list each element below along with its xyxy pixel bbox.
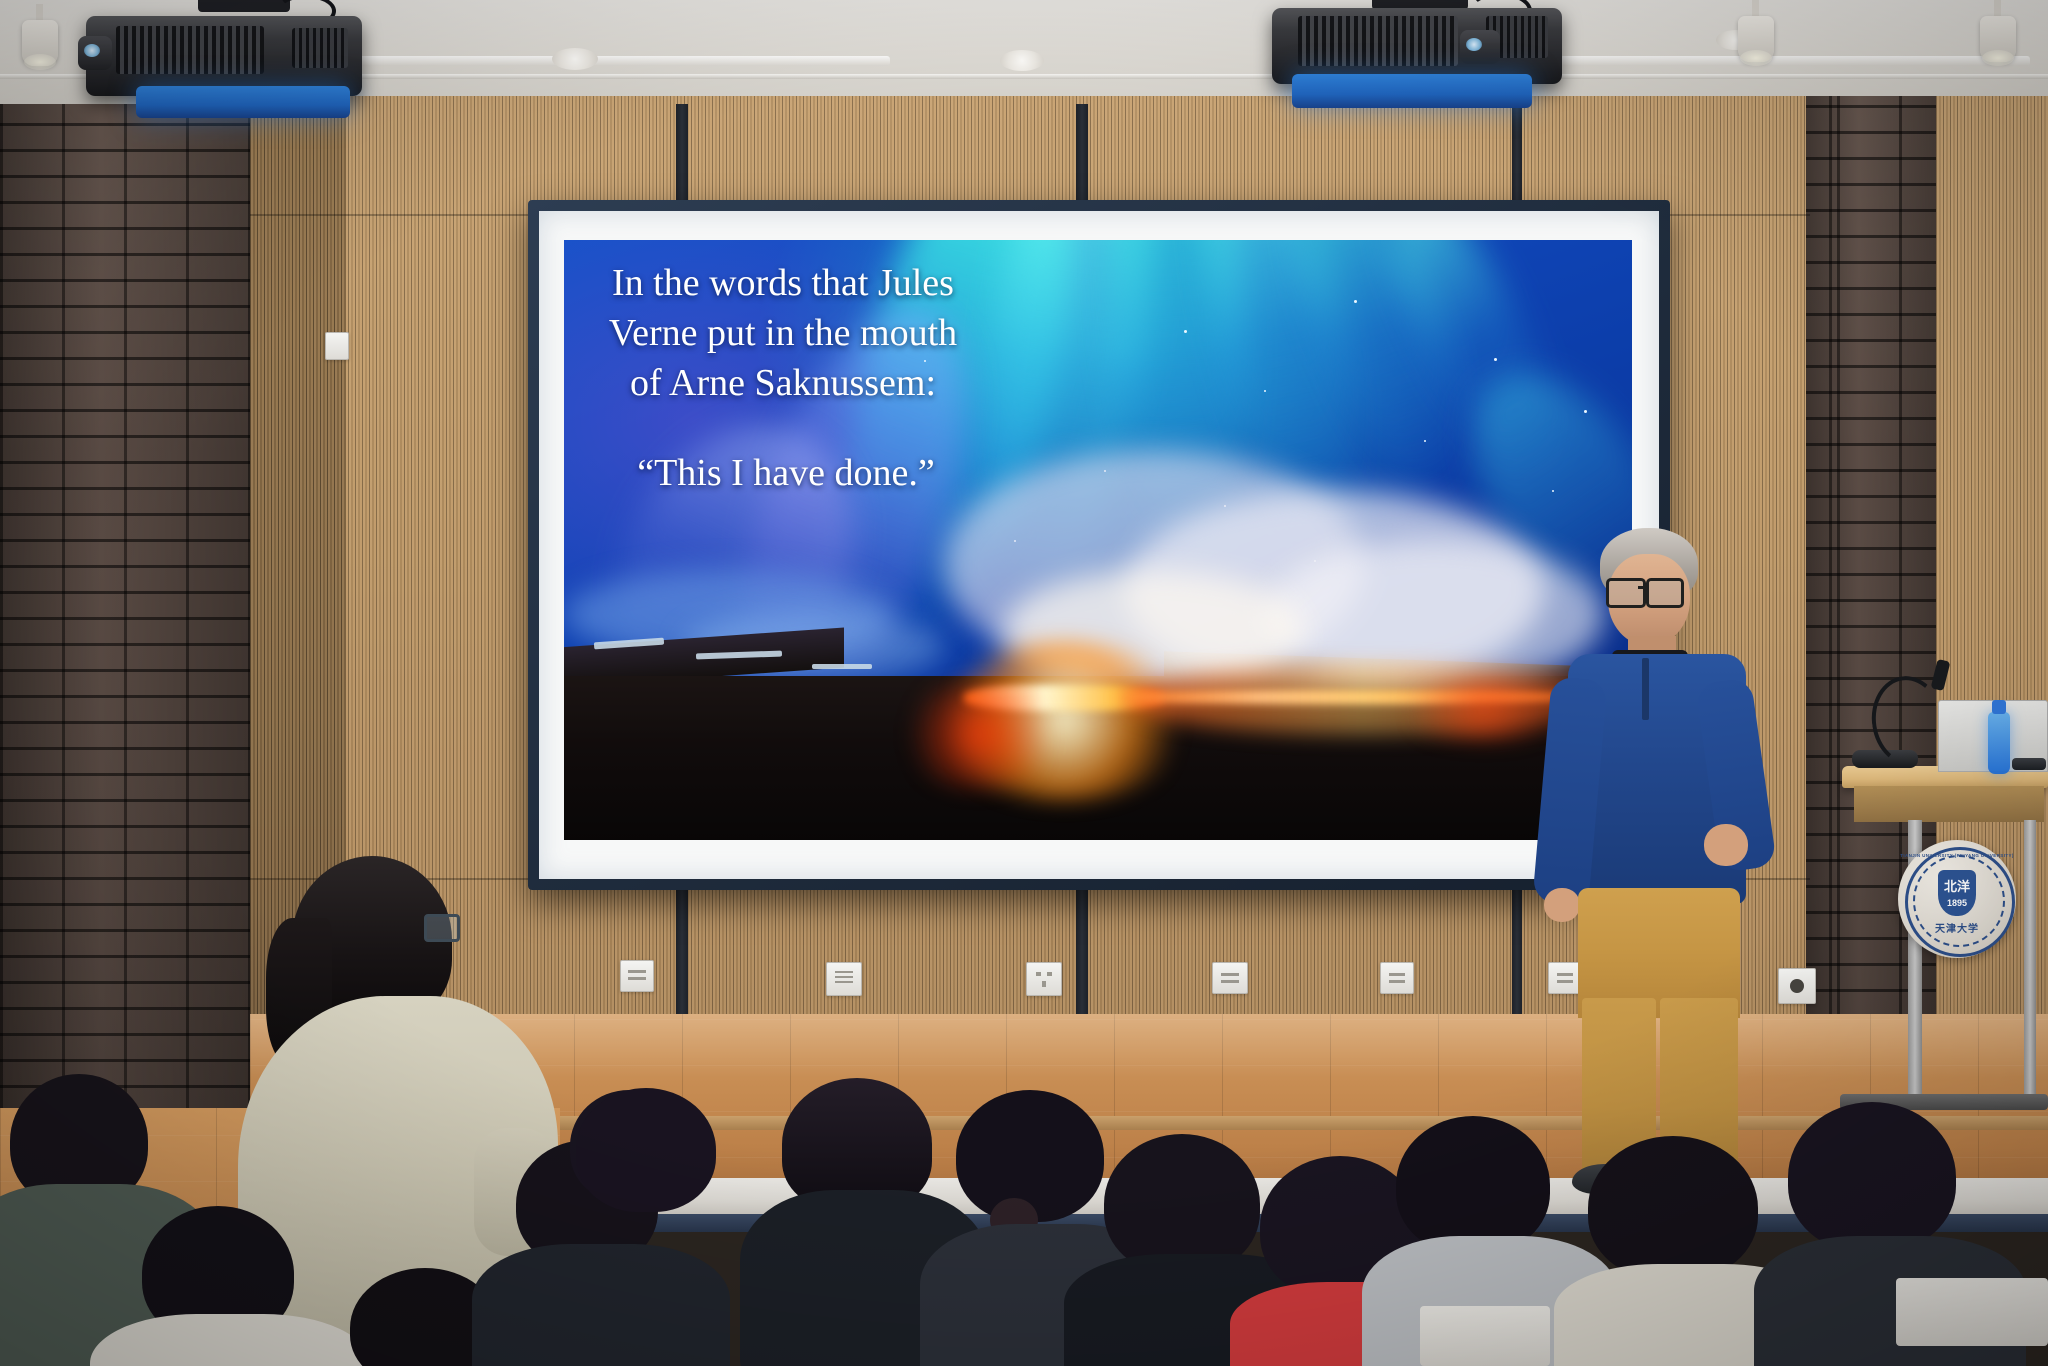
track-light-glow <box>24 54 56 70</box>
audience-head <box>1396 1116 1550 1254</box>
wall-plate[interactable] <box>325 332 349 360</box>
logo-year: 1895 <box>1938 898 1976 908</box>
track-light-glow <box>1740 50 1772 66</box>
projector-lens <box>78 36 112 70</box>
slide-line-2: Verne put in the mouth <box>578 308 988 358</box>
lava-glow <box>894 680 1064 790</box>
ceiling-projector-left <box>80 0 380 120</box>
projector-vent-grille <box>116 26 264 74</box>
track-light-glow <box>1982 50 2014 66</box>
presenter-glasses-bridge <box>1638 586 1648 589</box>
podium-leg <box>2024 820 2036 1100</box>
wall-outlet[interactable] <box>620 960 654 992</box>
snow-cap <box>812 664 872 669</box>
ceiling-light-strip <box>330 56 890 66</box>
wall-outlet[interactable] <box>826 962 862 996</box>
presenter-other-hand <box>1544 888 1580 922</box>
projector-lens-glass <box>84 44 100 57</box>
wall-outlet[interactable] <box>1026 962 1062 996</box>
logo-chinese-name: 天津大学 <box>1898 920 2016 935</box>
projector-blue-panel <box>1292 74 1532 108</box>
presenter-gesturing-hand <box>1704 824 1748 866</box>
brick-wall-left <box>0 104 252 1114</box>
seat-back <box>1420 1306 1550 1366</box>
lecture-hall-scene: In the words that Jules Verne put in the… <box>0 0 2048 1366</box>
slide-line-1: In the words that Jules <box>578 258 988 308</box>
audience-head <box>1104 1134 1260 1274</box>
presenter-glasses-left-lens <box>1606 578 1646 608</box>
audience-head <box>1788 1102 1956 1252</box>
ceiling-projector-right <box>1272 0 1572 112</box>
projector-blue-panel <box>136 86 350 118</box>
presenter <box>1530 528 1790 1168</box>
logo-shield-chars: 北洋 <box>1938 876 1976 895</box>
presenter-remote[interactable] <box>2012 758 2046 770</box>
audience-shoulders <box>90 1314 370 1366</box>
slide-line-3: of Arne Saknussem: <box>578 358 988 408</box>
podium-apron <box>1854 786 2044 822</box>
university-logo: 北洋 1895 天津大学 TIANJIN UNIVERSITY (PEIYANG… <box>1898 840 2016 958</box>
projector-vent-grille <box>1298 16 1458 66</box>
seat-back <box>1896 1278 2048 1346</box>
presenter-sweater-zip <box>1642 658 1649 720</box>
wall-outlet[interactable] <box>1212 962 1248 994</box>
audience-head <box>1588 1136 1758 1280</box>
brick-shading <box>0 104 252 1114</box>
slide-content: In the words that Jules Verne put in the… <box>564 240 1632 840</box>
audience-member <box>116 1206 360 1366</box>
projector-lens-glass <box>1466 38 1482 51</box>
presenter-glasses-right-lens <box>1646 578 1684 608</box>
logo-ring-text: TIANJIN UNIVERSITY (PEIYANG UNIVERSITY) <box>1898 853 2016 858</box>
slide-quote: “This I have done.” <box>586 448 986 498</box>
water-bottle-cap <box>1992 700 2006 714</box>
water-bottle[interactable] <box>1988 712 2010 774</box>
logo-shield: 北洋 1895 <box>1938 870 1976 916</box>
wall-outlet[interactable] <box>1380 962 1414 994</box>
slide-heading: In the words that Jules Verne put in the… <box>578 258 988 408</box>
recessed-downlight <box>552 48 598 70</box>
projector-vent-grille <box>292 28 348 68</box>
recessed-downlight <box>1000 50 1044 71</box>
audience-member <box>566 1088 756 1258</box>
audience-shoulders <box>472 1244 730 1366</box>
ceiling-light-strip <box>1560 56 2030 66</box>
audience-head <box>576 1088 716 1212</box>
student-glasses <box>424 914 460 942</box>
projection-screen[interactable]: In the words that Jules Verne put in the… <box>528 200 1670 890</box>
projector-lens <box>1460 30 1500 64</box>
